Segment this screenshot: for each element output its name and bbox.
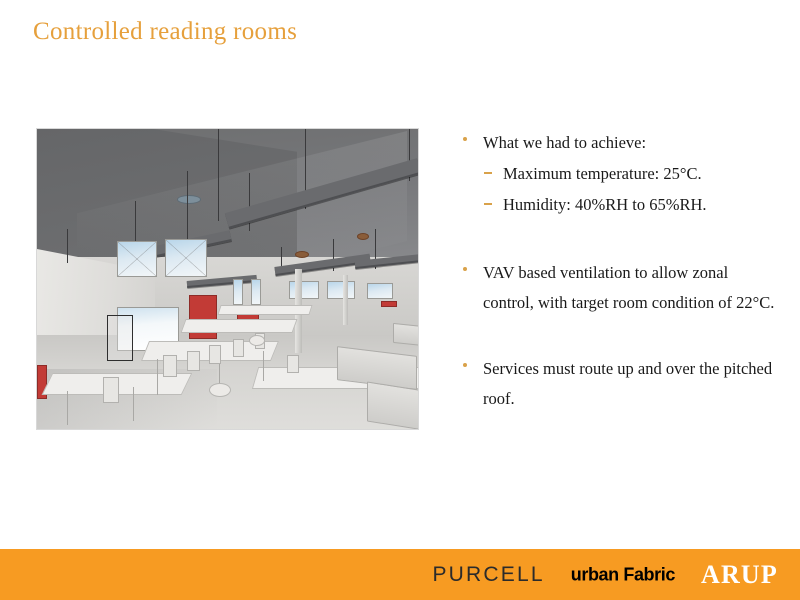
chair — [233, 339, 244, 357]
urban-fabric-logo: urban Fabric — [571, 563, 675, 585]
bullet-dot-icon — [463, 137, 467, 141]
bullet-text: Services must route up and over the pitc… — [483, 359, 772, 408]
structural-column — [343, 275, 348, 325]
window — [327, 281, 355, 299]
render-image — [36, 128, 419, 430]
chair — [187, 351, 200, 371]
arup-logo: ARUP — [701, 560, 778, 590]
table-leg — [67, 391, 68, 425]
suspension-rod — [67, 229, 68, 263]
table — [217, 305, 312, 315]
spacer — [455, 220, 780, 258]
sofa — [367, 381, 418, 429]
ceiling-fitting-icon — [295, 251, 309, 258]
bullet-dash-icon — [484, 203, 492, 205]
table-leg — [263, 351, 264, 381]
chair — [103, 377, 119, 403]
window — [251, 279, 261, 305]
window — [233, 279, 243, 305]
bullet-item: VAV based ventilation to allow zonal con… — [455, 258, 780, 318]
page-title: Controlled reading rooms — [33, 18, 297, 46]
window — [367, 283, 393, 299]
bullet-item: What we had to achieve: — [455, 128, 780, 158]
chair — [287, 355, 299, 373]
bullet-dot-icon — [463, 267, 467, 271]
bullet-content: What we had to achieve: Maximum temperat… — [455, 128, 780, 414]
window — [165, 239, 207, 277]
red-panel — [381, 301, 397, 307]
render-canvas — [37, 129, 418, 429]
door-frame — [107, 315, 133, 361]
window — [117, 241, 157, 277]
table-leg — [157, 359, 158, 395]
sub-bullet-item: Humidity: 40%RH to 65%RH. — [455, 189, 780, 220]
presentation-slide: Controlled reading rooms — [0, 0, 800, 600]
sub-bullet-text: Humidity: 40%RH to 65%RH. — [503, 195, 707, 214]
footer-logos: PURCELL urban Fabric ARUP — [432, 549, 778, 600]
bullet-text: VAV based ventilation to allow zonal con… — [483, 263, 774, 312]
ceiling-diffuser-icon — [177, 195, 201, 204]
table — [180, 319, 297, 333]
stool — [249, 335, 265, 346]
chair — [209, 345, 221, 364]
sub-bullet-text: Maximum temperature: 25°C. — [503, 164, 702, 183]
chair — [163, 355, 177, 377]
bullet-dot-icon — [463, 363, 467, 367]
suspension-rod — [218, 129, 219, 221]
ceiling-fitting-icon — [357, 233, 369, 240]
purcell-logo: PURCELL — [432, 563, 544, 587]
footer-bar: PURCELL urban Fabric ARUP — [0, 549, 800, 600]
bullet-item: Services must route up and over the pitc… — [455, 354, 780, 414]
sub-bullet-item: Maximum temperature: 25°C. — [455, 158, 780, 189]
table-leg — [133, 387, 134, 421]
bullet-dash-icon — [484, 172, 492, 174]
suspension-rod — [187, 171, 188, 249]
window — [289, 281, 319, 299]
bullet-text: What we had to achieve: — [483, 133, 646, 152]
spacer — [455, 318, 780, 354]
stool — [209, 383, 231, 397]
